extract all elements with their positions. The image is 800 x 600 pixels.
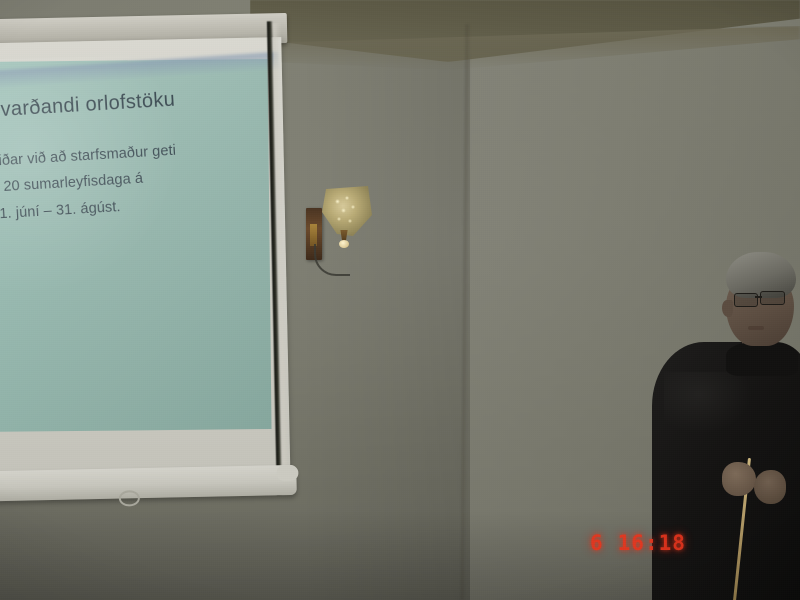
screen-bottom-roller-bar[interactable] (0, 465, 297, 501)
slide-content: efna varðandi orlofstöku urál miðar við … (0, 84, 261, 233)
screen-roller-end-cap (276, 465, 298, 481)
projection-screen: efna varðandi orlofstöku urál miðar við … (0, 13, 307, 520)
presenter-shoulder-highlight (664, 372, 784, 462)
presenter-left-hand (722, 462, 756, 496)
sconce-pull-cord[interactable] (314, 244, 350, 276)
slide-body: urál miðar við að starfsmaður geti a.m.k… (0, 135, 261, 226)
presenter-collar (726, 342, 798, 376)
screen-pull-ring[interactable] (119, 490, 140, 506)
sconce-backplate-highlight (310, 224, 317, 246)
wall-sconce (300, 178, 384, 274)
glasses-right-lens-icon (760, 291, 785, 305)
photo-scene: efna varðandi orlofstöku urál miðar við … (0, 0, 800, 600)
timestamp-date: 6 (590, 531, 604, 555)
presenter-mouth (748, 326, 764, 330)
timestamp-time: 16:18 (618, 531, 686, 555)
camera-timestamp: 6 16:18 (590, 531, 686, 555)
presenter-ear (722, 300, 733, 317)
presenter-right-hand (754, 470, 786, 504)
sconce-ornament (332, 194, 362, 228)
glasses-bridge (755, 296, 762, 298)
